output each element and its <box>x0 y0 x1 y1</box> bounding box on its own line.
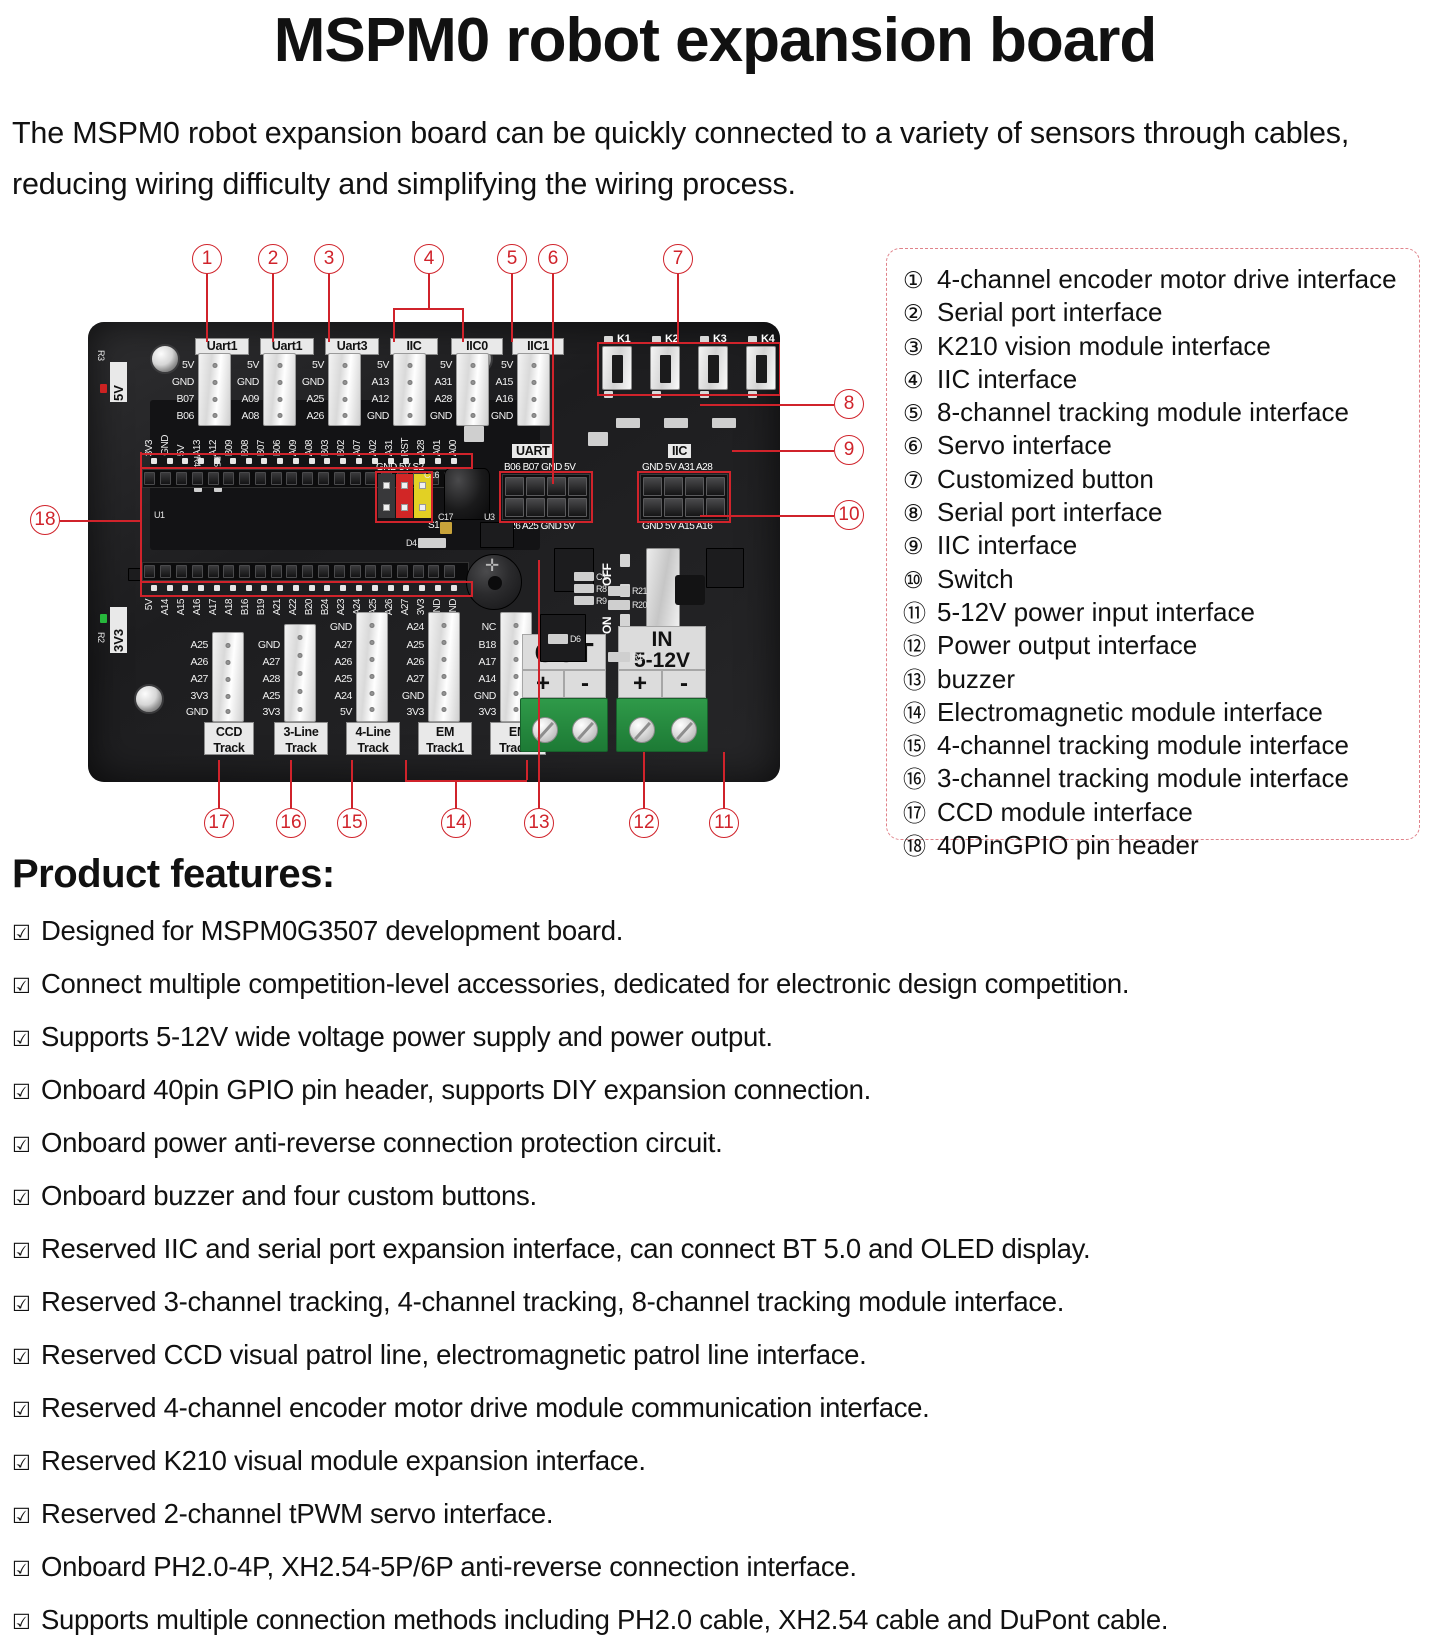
feature-item: ☑Reserved 4-channel encoder motor drive … <box>12 1383 1422 1436</box>
resistor-r20 <box>608 600 630 610</box>
connector-3line-track[interactable] <box>284 624 316 722</box>
leader-line-15 <box>351 760 353 808</box>
led-green <box>100 614 107 623</box>
pin-label: 5V <box>414 360 452 371</box>
gpio-label: A22 <box>288 599 304 615</box>
legend-number: ⑦ <box>903 464 937 496</box>
marker-17[interactable]: 17 <box>204 808 234 838</box>
features-list: ☑Designed for MSPM0G3507 development boa… <box>12 906 1422 1648</box>
mosfet-q2 <box>706 548 744 588</box>
regulator-u3 <box>480 522 514 548</box>
legend-item: ⑬buzzer <box>903 663 1407 696</box>
gpio-label: A15 <box>176 599 192 615</box>
pin-label: A25 <box>314 674 352 685</box>
resistor-r8 <box>574 584 594 593</box>
switch-lever[interactable] <box>675 575 705 605</box>
feature-item: ☑Onboard PH2.0-4P, XH2.54-5P/6P anti-rev… <box>12 1542 1422 1595</box>
legend-label: Serial port interface <box>937 496 1162 528</box>
legend-item: ③K210 vision module interface <box>903 330 1407 363</box>
pin-label: B07 <box>156 394 194 405</box>
connector-4line-track[interactable] <box>356 612 388 722</box>
feature-item: ☑Reserved IIC and serial port expansion … <box>12 1224 1422 1277</box>
conn-name-line1: 4-Line <box>355 725 390 739</box>
check-icon: ☑ <box>12 1545 41 1595</box>
page-title: MSPM0 robot expansion board <box>0 4 1430 78</box>
connector-cap-em-track1: EM Track1 <box>418 722 472 755</box>
connector-cap-3line-track: 3-Line Track <box>274 722 328 755</box>
pin-label: GND <box>414 411 452 422</box>
highlight-gpio-top <box>140 453 473 469</box>
pin-label: A16 <box>475 394 513 405</box>
legend-label: Switch <box>937 563 1014 595</box>
pin-label: A31 <box>414 377 452 388</box>
pin-label: A17 <box>458 657 496 668</box>
diode-d6 <box>548 634 568 644</box>
marker-5[interactable]: 5 <box>497 244 527 274</box>
feature-item: ☑Reserved K210 visual module expansion i… <box>12 1436 1422 1489</box>
leader-line-4 <box>428 274 430 308</box>
leader-line-7 <box>677 274 679 342</box>
legend-label: 40PinGPIO pin header <box>937 829 1199 861</box>
power-out-plus: + <box>522 670 564 698</box>
marker-9[interactable]: 9 <box>834 435 864 465</box>
marker-7[interactable]: 7 <box>663 244 693 274</box>
pin-label: 3V3 <box>458 707 496 718</box>
legend-number: ⑱ <box>903 830 937 862</box>
legend-number: ④ <box>903 364 937 396</box>
power-in-plus: + <box>618 670 662 698</box>
feature-text: Reserved 2-channel tPWM servo interface. <box>41 1489 553 1539</box>
pin-label: A27 <box>314 640 352 651</box>
marker-3[interactable]: 3 <box>314 244 344 274</box>
legend-item: ⑰CCD module interface <box>903 796 1407 829</box>
legend-label: 3-channel tracking module interface <box>937 762 1349 794</box>
marker-12[interactable]: 12 <box>629 808 659 838</box>
feature-text: Reserved CCD visual patrol line, electro… <box>41 1330 866 1380</box>
feature-item: ☑Onboard 40pin GPIO pin header, supports… <box>12 1065 1422 1118</box>
legend-number: ⑨ <box>903 530 937 562</box>
gpio-label: A16 <box>192 599 208 615</box>
power-input-terminal[interactable] <box>616 698 708 752</box>
feature-text: Reserved K210 visual module expansion in… <box>41 1436 646 1486</box>
power-in-title-1: IN <box>652 628 673 651</box>
check-icon: ☑ <box>12 1492 41 1542</box>
led-red <box>100 384 107 393</box>
silk-u3: U3 <box>484 512 495 522</box>
check-icon: ☑ <box>12 1333 41 1383</box>
pin-label: A26 <box>386 657 424 668</box>
legend-item: ⑯3-channel tracking module interface <box>903 762 1407 795</box>
leader-line-12 <box>643 752 645 808</box>
legend-label: IIC interface <box>937 529 1077 561</box>
legend-number: ⑥ <box>903 430 937 462</box>
terminal-screw[interactable] <box>532 717 558 743</box>
pin-label: A15 <box>475 377 513 388</box>
resistor-k2-pulldown <box>664 418 688 428</box>
smd-misc-mid <box>588 432 608 446</box>
terminal-screw[interactable] <box>629 717 655 743</box>
legend-label: 8-channel tracking module interface <box>937 396 1349 428</box>
legend-number: ⑤ <box>903 397 937 429</box>
leader-line-13 <box>538 560 540 808</box>
check-icon: ☑ <box>12 1227 41 1277</box>
leader-line-16 <box>290 760 292 808</box>
conn-name-line2: Track <box>213 741 244 755</box>
connector-em-track1[interactable] <box>428 612 460 722</box>
feature-text: Reserved IIC and serial port expansion i… <box>41 1224 1090 1274</box>
silk-d4: D4 <box>406 538 417 548</box>
conn-name-line1: 3-Line <box>283 725 318 739</box>
pin-label: A13 <box>351 377 389 388</box>
iic-header-name: IIC <box>668 444 691 458</box>
leader-line-2 <box>272 274 274 342</box>
feature-item: ☑Connect multiple competition-level acce… <box>12 959 1422 1012</box>
pin-label: A08 <box>221 411 259 422</box>
resistor-k3-pulldown <box>712 418 736 428</box>
marker-13[interactable]: 13 <box>524 808 554 838</box>
terminal-screw[interactable] <box>671 717 697 743</box>
pin-label: 3V3 <box>242 707 280 718</box>
mounting-hole-bottom-left <box>134 684 164 714</box>
leader-line-18 <box>60 520 141 522</box>
pin-label: A27 <box>242 657 280 668</box>
pin-label: A25 <box>242 691 280 702</box>
gpio-label: B16 <box>240 599 256 615</box>
conn-name-line2: Track1 <box>426 741 464 755</box>
pin-label: A25 <box>286 394 324 405</box>
silk-u1: U1 <box>154 510 165 520</box>
legend-label: Electromagnetic module interface <box>937 696 1323 728</box>
marker-2[interactable]: 2 <box>258 244 288 274</box>
intro-paragraph: The MSPM0 robot expansion board can be q… <box>12 108 1412 210</box>
pin-label: 5V <box>156 360 194 371</box>
legend-number: ① <box>903 264 937 296</box>
legend-label: 4-channel tracking module interface <box>937 729 1349 761</box>
check-icon: ☑ <box>12 962 41 1012</box>
leader-line-14 <box>455 780 457 808</box>
leader-line-6 <box>552 274 554 484</box>
gpio-header-bottom-row-inner[interactable] <box>142 562 469 581</box>
marker-18[interactable]: 18 <box>30 505 60 535</box>
silk-r3: R3 <box>96 350 106 361</box>
pin-label: A27 <box>170 674 208 685</box>
pcb-board: 5V 3V3 R3 R2 U1 F1 R4 R5 Uart1 5V GND B0… <box>88 322 780 782</box>
pin-label: GND <box>221 377 259 388</box>
pin-label: A12 <box>351 394 389 405</box>
gpio-top-labels: 3V3 GND 5V A13 A12 B09 B08 B07 B06 A09 A… <box>144 422 464 456</box>
leader-line-3 <box>328 274 330 342</box>
resistor-k1-pulldown <box>616 418 640 428</box>
pin-label: A14 <box>458 674 496 685</box>
marker-10[interactable]: 10 <box>834 500 864 530</box>
pin-label: GND <box>351 411 389 422</box>
highlight-servo <box>375 471 433 523</box>
silk-r8: R8 <box>596 584 607 594</box>
marker-8[interactable]: 8 <box>834 389 864 419</box>
legend-number: ⑯ <box>903 763 937 795</box>
connector-iic1[interactable] <box>517 353 550 426</box>
legend-item: ⑱40PinGPIO pin header <box>903 829 1407 862</box>
legend-item: ⑮4-channel tracking module interface <box>903 729 1407 762</box>
feature-text: Designed for MSPM0G3507 development boar… <box>41 906 623 956</box>
pin-label: 3V3 <box>170 691 208 702</box>
pin-label: 5V <box>286 360 324 371</box>
legend-panel: ①4-channel encoder motor drive interface… <box>886 248 1420 840</box>
legend-label: K210 vision module interface <box>937 330 1271 362</box>
conn-name-line1: EM <box>436 725 454 739</box>
legend-item: ①4-channel encoder motor drive interface <box>903 263 1407 296</box>
leader-line-10 <box>700 515 834 517</box>
marker-11[interactable]: 11 <box>709 808 739 838</box>
check-icon: ☑ <box>12 1121 41 1171</box>
legend-item: ⑦Customized button <box>903 463 1407 496</box>
switch-pin <box>620 554 630 567</box>
legend-item: ⑩Switch <box>903 563 1407 596</box>
silk-r2: R2 <box>96 632 106 643</box>
pin-label: GND <box>242 640 280 651</box>
marker-15[interactable]: 15 <box>337 808 367 838</box>
pin-label: GND <box>386 691 424 702</box>
check-icon: ☑ <box>12 909 41 959</box>
legend-item: ⑭Electromagnetic module interface <box>903 696 1407 729</box>
feature-text: Onboard PH2.0-4P, XH2.54-5P/6P anti-reve… <box>41 1542 857 1592</box>
pin-label: 5V <box>475 360 513 371</box>
feature-item: ☑Reserved 3-channel tracking, 4-channel … <box>12 1277 1422 1330</box>
resistor-r14 <box>608 652 630 662</box>
capacitor-c1 <box>574 572 594 581</box>
legend-item: ②Serial port interface <box>903 296 1407 329</box>
legend-item: ⑧Serial port interface <box>903 496 1407 529</box>
silk-r21: R21 <box>632 586 647 596</box>
gpio-label: A21 <box>272 599 288 615</box>
terminal-screw[interactable] <box>572 717 598 743</box>
gpio-label: A23 <box>336 599 352 615</box>
legend-item: ④IIC interface <box>903 363 1407 396</box>
gpio-label: B24 <box>320 599 336 615</box>
silk-r9: R9 <box>596 596 607 606</box>
legend-label: Serial port interface <box>937 296 1162 328</box>
pin-label: GND <box>170 707 208 718</box>
check-icon: ☑ <box>12 1280 41 1330</box>
legend-label: IIC interface <box>937 363 1077 395</box>
pin-label: GND <box>458 691 496 702</box>
power-slide-switch[interactable] <box>646 548 680 632</box>
feature-item: ☑Reserved CCD visual patrol line, electr… <box>12 1330 1422 1383</box>
feature-text: Supports 5-12V wide voltage power supply… <box>41 1012 773 1062</box>
pin-label: GND <box>314 622 352 633</box>
legend-number: ⑪ <box>903 597 937 629</box>
gpio-label: A18 <box>224 599 240 615</box>
resistor-r21 <box>608 586 630 596</box>
check-icon: ☑ <box>12 1598 41 1648</box>
pin-label: A28 <box>414 394 452 405</box>
leader-branch-4b <box>462 308 464 342</box>
silk-d6: D6 <box>570 634 581 644</box>
power-in-minus: - <box>662 670 706 698</box>
conn-name-line2: Track <box>357 741 388 755</box>
feature-text: Supports multiple connection methods inc… <box>41 1595 1168 1645</box>
pin-label: A26 <box>314 657 352 668</box>
pin-label: A26 <box>170 657 208 668</box>
pin-label: B06 <box>156 411 194 422</box>
pin-label: B18 <box>458 640 496 651</box>
check-icon: ☑ <box>12 1439 41 1489</box>
legend-number: ③ <box>903 331 937 363</box>
leader-branch-4a <box>393 308 395 342</box>
marker-16[interactable]: 16 <box>276 808 306 838</box>
pin-label: A24 <box>314 691 352 702</box>
marker-6[interactable]: 6 <box>538 244 568 274</box>
pin-label: NC <box>458 622 496 633</box>
conn-name-line2: Track <box>285 741 316 755</box>
feature-text: Connect multiple competition-level acces… <box>41 959 1129 1009</box>
highlight-buttons <box>597 342 780 396</box>
marker-4[interactable]: 4 <box>414 244 444 274</box>
leader-line-5 <box>511 274 513 342</box>
leader-line-17 <box>218 760 220 808</box>
legend-number: ⑰ <box>903 797 937 829</box>
gpio-label: B19 <box>256 599 272 615</box>
leader-line-8 <box>700 404 834 406</box>
feature-item: ☑Onboard power anti-reverse connection p… <box>12 1118 1422 1171</box>
legend-number: ⑭ <box>903 697 937 729</box>
marker-1[interactable]: 1 <box>192 244 222 274</box>
conn-name-line1: CCD <box>216 725 242 739</box>
legend-number: ⑫ <box>903 630 937 662</box>
legend-number: ② <box>903 297 937 329</box>
silk-r20: R20 <box>632 600 647 610</box>
check-icon: ☑ <box>12 1068 41 1118</box>
pin-label: 3V3 <box>386 707 424 718</box>
pin-label: A28 <box>242 674 280 685</box>
legend-number: ⑩ <box>903 564 937 596</box>
gpio-label: 5V <box>144 599 160 610</box>
connector-cap-4line-track: 4-Line Track <box>346 722 400 755</box>
diode-d4 <box>418 538 446 548</box>
connector-ccd-track[interactable] <box>212 632 244 722</box>
legend-label: CCD module interface <box>937 796 1193 828</box>
leader-branch-14a <box>405 760 407 780</box>
pin-label: 5V <box>314 707 352 718</box>
uart-header-name: UART <box>512 444 554 458</box>
silk-5v: 5V <box>110 362 127 402</box>
legend-number: ⑬ <box>903 664 937 696</box>
silk-3v3: 3V3 <box>110 607 127 653</box>
features-title: Product features: <box>12 852 335 897</box>
pin-label: 5V <box>221 360 259 371</box>
gpio-label: A14 <box>160 599 176 615</box>
power-out-minus: - <box>564 670 606 698</box>
check-icon: ☑ <box>12 1386 41 1436</box>
leader-line-11 <box>723 752 725 808</box>
power-output-terminal[interactable] <box>520 698 608 752</box>
capacitor-c17 <box>440 522 452 534</box>
feature-item: ☑Supports 5-12V wide voltage power suppl… <box>12 1012 1422 1065</box>
feature-text: Onboard buzzer and four custom buttons. <box>41 1171 537 1221</box>
highlight-uart-header <box>499 471 593 523</box>
legend-label: 4-channel encoder motor drive interface <box>937 263 1397 295</box>
silk-c1: C1 <box>596 572 607 582</box>
pin-label: A09 <box>221 394 259 405</box>
leader-branch-14b <box>526 760 528 780</box>
check-icon: ☑ <box>12 1174 41 1224</box>
pin-label: 5V <box>351 360 389 371</box>
feature-item: ☑Supports multiple connection methods in… <box>12 1595 1422 1648</box>
feature-item: ☑Onboard buzzer and four custom buttons. <box>12 1171 1422 1224</box>
legend-label: buzzer <box>937 663 1015 695</box>
gpio-label: A27 <box>400 599 416 615</box>
legend-item: ⑤8-channel tracking module interface <box>903 396 1407 429</box>
feature-item: ☑Designed for MSPM0G3507 development boa… <box>12 906 1422 959</box>
pin-label: GND <box>286 377 324 388</box>
connector-cap-ccd-track: CCD Track <box>204 722 254 755</box>
leader-bracket-18 <box>140 452 142 588</box>
resistor-r9 <box>574 596 594 605</box>
silk-r14: R14 <box>632 652 647 662</box>
leader-line-9 <box>732 450 834 452</box>
gpio-label: B20 <box>304 599 320 615</box>
legend-number: ⑮ <box>903 730 937 762</box>
gpio-label: A17 <box>208 599 224 615</box>
marker-14[interactable]: 14 <box>441 808 471 838</box>
legend-item: ⑫Power output interface <box>903 629 1407 662</box>
leader-bracket-14 <box>405 780 527 782</box>
pin-label: A25 <box>170 640 208 651</box>
power-in-cap: IN 5-12V <box>618 626 706 670</box>
check-icon: ☑ <box>12 1015 41 1065</box>
smd-misc-top <box>464 426 484 442</box>
legend-label: 5-12V power input interface <box>937 596 1255 628</box>
legend-label: Power output interface <box>937 629 1197 661</box>
legend-label: Customized button <box>937 463 1154 495</box>
pin-label: GND <box>475 411 513 422</box>
feature-text: Reserved 4-channel encoder motor drive m… <box>41 1383 930 1433</box>
pin-label: GND <box>156 377 194 388</box>
legend-item: ⑪5-12V power input interface <box>903 596 1407 629</box>
leader-line-1 <box>206 274 208 342</box>
feature-item: ☑Reserved 2-channel tPWM servo interface… <box>12 1489 1422 1542</box>
pin-label: A27 <box>386 674 424 685</box>
legend-item: ⑥Servo interface <box>903 429 1407 462</box>
buzzer <box>466 554 522 610</box>
pin-label: A26 <box>286 411 324 422</box>
pin-label: A25 <box>386 640 424 651</box>
legend-label: Servo interface <box>937 429 1112 461</box>
highlight-gpio-bottom <box>140 581 473 597</box>
feature-text: Onboard 40pin GPIO pin header, supports … <box>41 1065 871 1115</box>
pin-label: A24 <box>386 622 424 633</box>
feature-text: Reserved 3-channel tracking, 4-channel t… <box>41 1277 1064 1327</box>
legend-number: ⑧ <box>903 497 937 529</box>
silk-c17: C17 <box>438 512 453 522</box>
legend-item: ⑨IIC interface <box>903 529 1407 562</box>
feature-text: Onboard power anti-reverse connection pr… <box>41 1118 722 1168</box>
leader-bracket-4 <box>393 308 463 310</box>
